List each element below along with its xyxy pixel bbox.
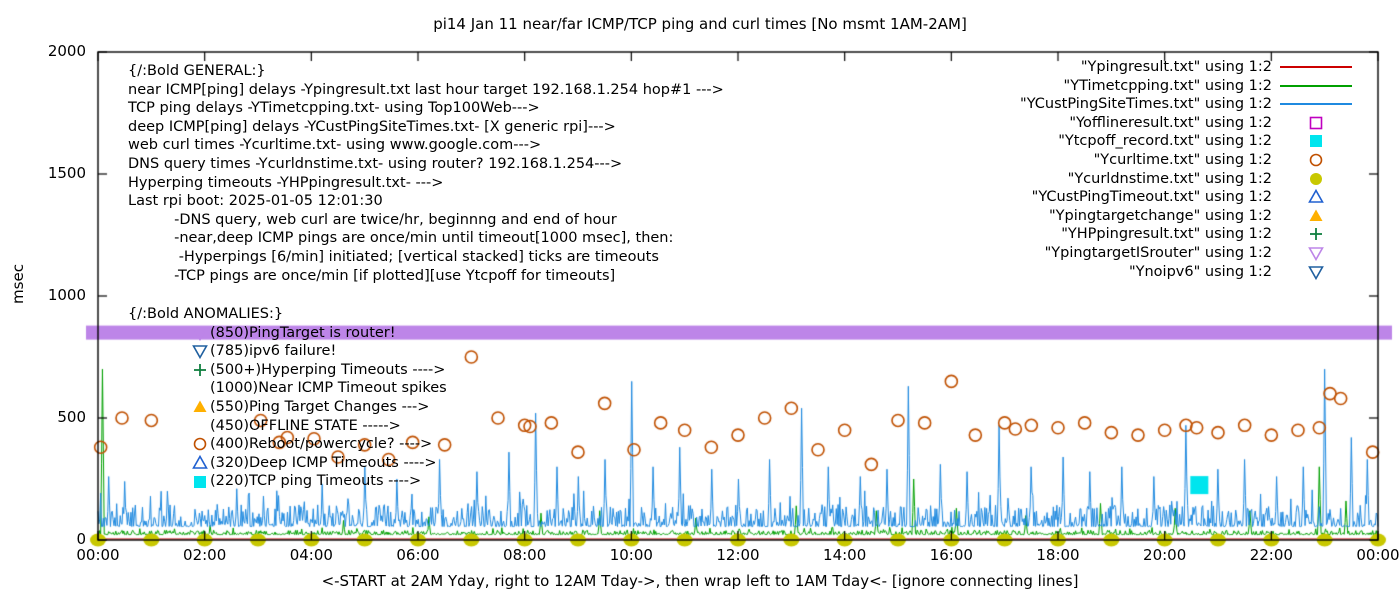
x-tick-label: 20:00 — [1125, 546, 1205, 564]
legend-marker-triangle-down-open-icon — [1278, 244, 1354, 263]
x-tick-label: 00:00 — [58, 546, 138, 564]
anomaly-label: (850)PingTarget is router! — [210, 324, 396, 343]
anomaly-label: (1000)Near ICMP Timeout spikes — [210, 379, 447, 398]
legend-marker-triangle-down-open-icon — [1278, 263, 1354, 282]
general-line: near ICMP[ping] delays -Ypingresult.txt … — [128, 81, 724, 100]
anomaly-label: (400)Reboot/powercycle? ----> — [210, 435, 432, 454]
legend-entry: "Ypingresult.txt" using 1:2 — [1020, 58, 1354, 77]
anomaly-row: (785)ipv6 failure! — [128, 342, 447, 361]
x-tick-label: 10:00 — [591, 546, 671, 564]
general-line: -Hyperpings [6/min] initiated; [vertical… — [128, 248, 724, 267]
general-line: -DNS query, web curl are twice/hr, begin… — [128, 211, 724, 230]
x-tick-label: 18:00 — [1018, 546, 1098, 564]
general-line: deep ICMP[ping] delays -YCustPingSiteTim… — [128, 118, 724, 137]
anomaly-row: (850)PingTarget is router! — [128, 324, 447, 343]
legend-entry: "YTimetcpping.txt" using 1:2 — [1020, 77, 1354, 96]
legend-label: "Ynoipv6" using 1:2 — [1129, 263, 1272, 282]
general-line: -near,deep ICMP pings are once/min until… — [128, 229, 724, 248]
y-tick-label: 1000 — [26, 286, 86, 304]
legend-marker-line-icon — [1278, 95, 1354, 114]
anomalies-annotation-block: {/:Bold ANOMALIES:}(850)PingTarget is ro… — [128, 305, 447, 491]
anomaly-label: (785)ipv6 failure! — [210, 342, 336, 361]
legend-entry: "Ycurltime.txt" using 1:2 — [1020, 151, 1354, 170]
y-tick-label: 500 — [26, 408, 86, 426]
anomaly-label: (550)Ping Target Changes ---> — [210, 398, 429, 417]
anomaly-marker-plus-green-icon — [190, 361, 210, 379]
x-tick-label: 12:00 — [698, 546, 778, 564]
legend-marker-circle-open-icon — [1278, 151, 1354, 170]
legend-label: "YTimetcpping.txt" using 1:2 — [1064, 77, 1272, 96]
legend-entry: "Ypingtargetchange" using 1:2 — [1020, 207, 1354, 226]
y-tick-label: 1500 — [26, 164, 86, 182]
x-tick-label: 22:00 — [1231, 546, 1311, 564]
anomaly-row: (1000)Near ICMP Timeout spikes — [128, 379, 447, 398]
y-tick-label: 2000 — [26, 42, 86, 60]
x-tick-label: 04:00 — [271, 546, 351, 564]
legend-entry: "Yofflineresult.txt" using 1:2 — [1020, 114, 1354, 133]
legend-entry: "YCustPingTimeout.txt" using 1:2 — [1020, 188, 1354, 207]
anomaly-label: (220)TCP ping Timeouts ----> — [210, 472, 421, 491]
legend-label: "Ytcpoff_record.txt" using 1:2 — [1058, 132, 1272, 151]
x-tick-label: 00:00 — [1338, 546, 1400, 564]
legend-entry: "Ytcpoff_record.txt" using 1:2 — [1020, 132, 1354, 151]
anomaly-marker-square-open-magenta-icon — [190, 417, 210, 435]
anomaly-label: (450)OFFLINE STATE -----> — [210, 417, 401, 436]
legend-marker-circle-filled-icon — [1278, 170, 1354, 189]
legend-entry: "YHPpingresult.txt" using 1:2 — [1020, 225, 1354, 244]
anomaly-row: (550)Ping Target Changes ---> — [128, 398, 447, 417]
legend-label: "YpingtargetISrouter" using 1:2 — [1045, 244, 1272, 263]
legend-marker-line-icon — [1278, 58, 1354, 77]
anomaly-marker-square-filled-cyan-icon — [190, 473, 210, 491]
anomaly-row: (400)Reboot/powercycle? ----> — [128, 435, 447, 454]
general-line: -TCP pings are once/min [if plotted][use… — [128, 267, 724, 286]
general-heading: {/:Bold GENERAL:} — [128, 62, 724, 81]
legend-label: "YHPpingresult.txt" using 1:2 — [1061, 225, 1272, 244]
anomaly-row: (220)TCP ping Timeouts ----> — [128, 472, 447, 491]
general-line: DNS query times -Ycurldnstime.txt- using… — [128, 155, 724, 174]
legend-label: "YCustPingTimeout.txt" using 1:2 — [1032, 188, 1272, 207]
x-tick-label: 14:00 — [805, 546, 885, 564]
general-line: TCP ping delays -YTimetcpping.txt- using… — [128, 99, 724, 118]
chart-legend: "Ypingresult.txt" using 1:2"YTimetcpping… — [1020, 58, 1354, 281]
legend-entry: "YpingtargetISrouter" using 1:2 — [1020, 244, 1354, 263]
x-tick-label: 16:00 — [911, 546, 991, 564]
anomaly-marker-none-icon — [190, 380, 210, 398]
legend-marker-triangle-up-open-icon — [1278, 188, 1354, 207]
anomaly-marker-triangle-down-open-blue-icon — [190, 342, 210, 360]
legend-label: "Ypingtargetchange" using 1:2 — [1049, 207, 1272, 226]
chart-title: pi14 Jan 11 near/far ICMP/TCP ping and c… — [0, 15, 1400, 33]
x-tick-label: 06:00 — [378, 546, 458, 564]
anomaly-label: (500+)Hyperping Timeouts ----> — [210, 361, 445, 380]
y-axis-label: msec — [9, 244, 27, 324]
legend-marker-square-open-icon — [1278, 114, 1354, 133]
legend-marker-line-icon — [1278, 77, 1354, 96]
chart-screenshot: pi14 Jan 11 near/far ICMP/TCP ping and c… — [0, 0, 1400, 600]
anomalies-heading: {/:Bold ANOMALIES:} — [128, 305, 447, 324]
legend-marker-square-filled-icon — [1278, 132, 1354, 151]
anomaly-row: (500+)Hyperping Timeouts ----> — [128, 361, 447, 380]
legend-label: "Ypingresult.txt" using 1:2 — [1081, 58, 1272, 77]
legend-entry: "YCustPingSiteTimes.txt" using 1:2 — [1020, 95, 1354, 114]
anomaly-label: (320)Deep ICMP Timeouts ----> — [210, 454, 437, 473]
x-axis-caption: <-START at 2AM Yday, right to 12AM Tday-… — [0, 572, 1400, 590]
legend-marker-triangle-up-filled-icon — [1278, 207, 1354, 226]
anomaly-marker-triangle-up-open-blue-icon — [190, 454, 210, 472]
general-line: Hyperping timeouts -YHPpingresult.txt- -… — [128, 174, 724, 193]
legend-label: "Ycurldnstime.txt" using 1:2 — [1068, 170, 1272, 189]
general-line: web curl times -Ycurltime.txt- using www… — [128, 136, 724, 155]
legend-label: "Ycurltime.txt" using 1:2 — [1094, 151, 1272, 170]
legend-label: "YCustPingSiteTimes.txt" using 1:2 — [1020, 95, 1272, 114]
x-tick-label: 08:00 — [485, 546, 565, 564]
anomaly-row: (450)OFFLINE STATE -----> — [128, 417, 447, 436]
general-line: Last rpi boot: 2025-01-05 12:01:30 — [128, 192, 724, 211]
legend-entry: "Ynoipv6" using 1:2 — [1020, 263, 1354, 282]
anomaly-row: (320)Deep ICMP Timeouts ----> — [128, 454, 447, 473]
legend-label: "Yofflineresult.txt" using 1:2 — [1069, 114, 1272, 133]
legend-entry: "Ycurldnstime.txt" using 1:2 — [1020, 170, 1354, 189]
anomaly-marker-triangle-down-open-violet-icon — [190, 324, 210, 342]
legend-marker-plus-icon — [1278, 225, 1354, 244]
anomaly-marker-circle-open-darkorange-icon — [190, 435, 210, 453]
anomaly-marker-triangle-up-filled-orange-icon — [190, 398, 210, 416]
general-annotation-block: {/:Bold GENERAL:}near ICMP[ping] delays … — [128, 62, 724, 285]
x-tick-label: 02:00 — [165, 546, 245, 564]
